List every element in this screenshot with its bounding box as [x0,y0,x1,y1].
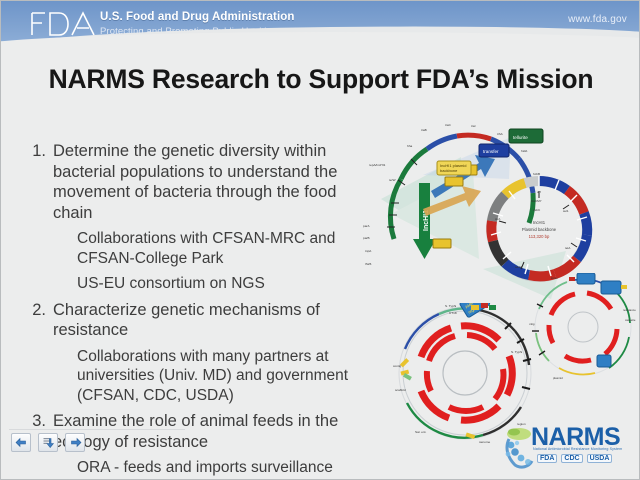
sub-item: US-EU consortium on NGS [77,274,372,294]
fda-header-banner: U.S. Food and Drug Administration Protec… [1,1,640,53]
svg-text:traB: traB [421,128,427,132]
plasmid-center-line2: Plasmid backbone [522,227,557,232]
list-item-text: Examine the role of animal feeds in the … [53,411,372,452]
agency-logo-cdc: CDC [561,454,582,463]
svg-text:S. Typhi: S. Typhi [511,350,522,354]
svg-text:aadA: aadA [515,265,522,269]
presentation-slide: U.S. Food and Drug Administration Protec… [0,0,640,480]
svg-text:CT18: CT18 [449,311,457,315]
svg-text:contig: contig [393,364,402,368]
back-arrow-icon[interactable] [11,433,31,452]
narms-subtitle: National Antimicrobial Resistance Monito… [533,447,622,451]
svg-text:genome: genome [479,440,490,443]
toolbar-divider [9,429,185,430]
list-item: 1. Determine the genetic diversity withi… [27,141,372,223]
svg-text:locus: locus [551,276,558,280]
list-item-number: 2. [27,300,53,341]
list-item-number: 1. [27,141,53,223]
plasmid-center-line1: IncHI1 [533,220,546,225]
svg-text:traI: traI [471,124,476,128]
svg-text:cassette: cassette [625,318,636,322]
svg-text:S. Typhi: S. Typhi [445,304,456,308]
site-url[interactable]: www.fda.gov [568,14,627,25]
svg-text:terW: terW [389,178,396,182]
narms-logo: NARMS National Antimicrobial Resistance … [499,421,635,473]
svg-text:Sal. ent.: Sal. ent. [415,430,426,434]
list-item-text: Determine the genetic diversity within b… [53,141,372,223]
svg-text:trhA: trhA [497,132,504,136]
svg-text:backbone: backbone [440,168,458,173]
svg-text:dsbC: dsbC [533,208,541,212]
svg-text:transfer: transfer [483,149,499,154]
svg-text:tellurite: tellurite [513,135,528,140]
plasmid-backbone-map: repA/IncHI1 parA parB tnpA IS26 traB tra… [361,119,639,299]
navigation-toolbar [11,433,85,452]
sub-item: ORA - feeds and imports surveillance [77,458,372,478]
agency-name: U.S. Food and Drug Administration [100,11,295,23]
svg-text:hcbB: hcbB [533,172,540,176]
forward-arrow-icon[interactable] [65,433,85,452]
list-item: 2. Characterize genetic mechanisms of re… [27,300,372,341]
narms-agency-logos: FDA CDC USDA [537,454,612,463]
plasmid-center-line3: 113,320 bp [529,234,550,239]
svg-text:tetA: tetA [565,246,570,250]
download-arrow-icon[interactable] [38,433,58,452]
svg-text:traC: traC [445,123,452,127]
sub-item: Collaborations with CFSAN-MRC and CFSAN-… [77,229,372,268]
list-item-text: Characterize genetic mechanisms of resis… [53,300,372,341]
svg-text:blaCMY: blaCMY [531,199,542,203]
svg-text:hha: hha [407,144,412,148]
sub-item: Collaborations with many partners at uni… [77,347,372,406]
header-wave-decoration-2 [1,32,640,53]
svg-text:sul1: sul1 [563,209,569,213]
svg-text:resistance: resistance [623,308,636,312]
slide-title: NARMS Research to Support FDA’s Mission [41,63,601,95]
svg-text:plasmid: plasmid [553,376,563,380]
circular-genome-map-small: locus resistance cassette contig plasmid [529,273,640,383]
svg-text:htdA: htdA [521,149,528,153]
svg-text:scaffold: scaffold [395,388,406,392]
svg-text:strA: strA [495,217,500,221]
agency-logo-usda: USDA [587,454,613,463]
agency-logo-fda: FDA [537,454,557,463]
svg-text:contig: contig [529,322,535,326]
